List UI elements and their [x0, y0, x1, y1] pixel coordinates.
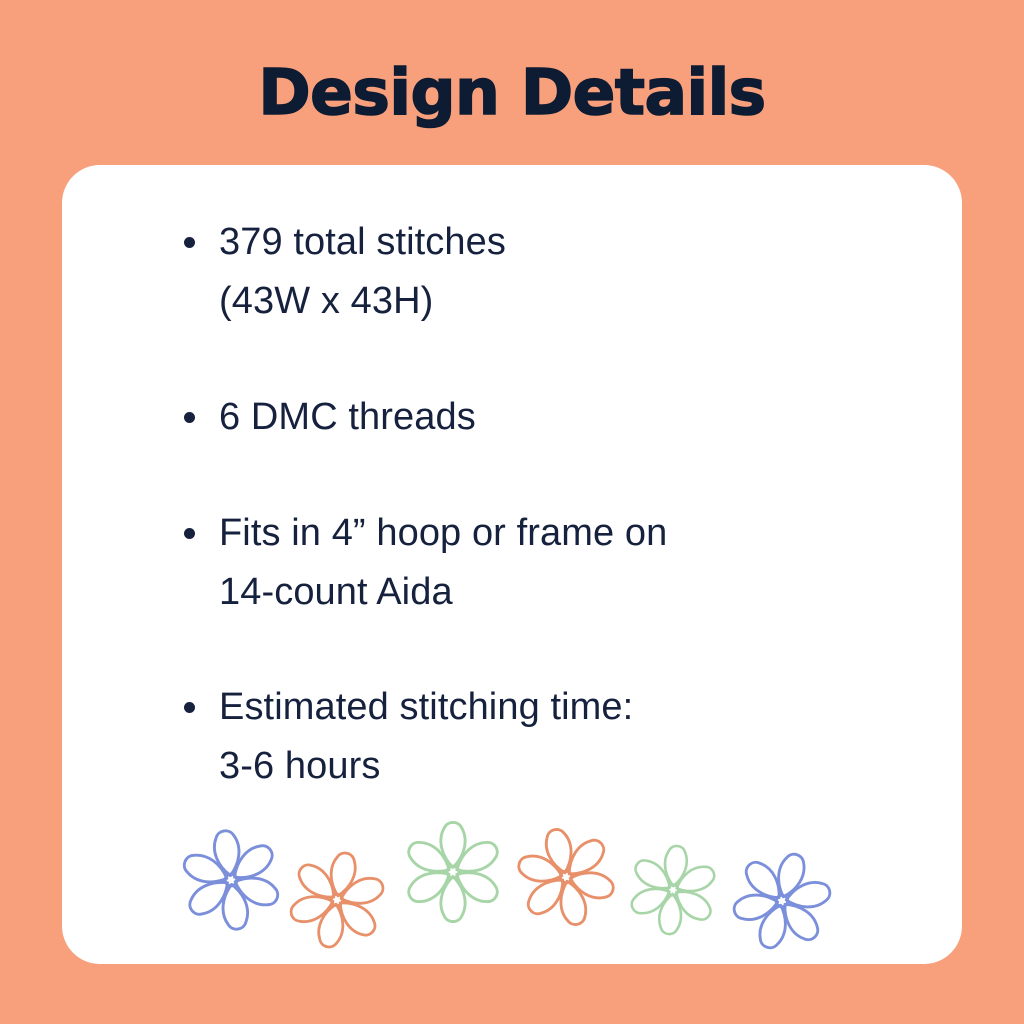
- bullet-dot-icon: [184, 528, 195, 539]
- list-item-line-2: (43W x 43H): [219, 272, 918, 331]
- page-title: Design Details: [0, 58, 1024, 127]
- bullet-dot-icon: [184, 412, 195, 423]
- list-item-hoop-size: Fits in 4” hoop or frame on 14-count Aid…: [178, 504, 918, 622]
- list-item-line-1: 379 total stitches: [219, 213, 918, 272]
- design-details-list: 379 total stitches (43W x 43H) 6 DMC thr…: [178, 213, 918, 796]
- flower-icon: [511, 822, 621, 932]
- flower-icon: [397, 816, 509, 928]
- list-item-line-1: Fits in 4” hoop or frame on: [219, 504, 918, 563]
- flower-icon: [175, 824, 287, 936]
- flower-icon: [727, 846, 837, 956]
- list-item-total-stitches: 379 total stitches (43W x 43H): [178, 213, 918, 331]
- flower-decoration-row: [175, 810, 875, 950]
- list-item-line-2: 3-6 hours: [219, 737, 918, 796]
- list-item-stitching-time: Estimated stitching time: 3-6 hours: [178, 678, 918, 796]
- list-item-line-2: 14-count Aida: [219, 563, 918, 622]
- list-item-line-1: 6 DMC threads: [219, 388, 918, 447]
- bullet-dot-icon: [184, 702, 195, 713]
- flower-icon: [283, 846, 391, 954]
- bullet-dot-icon: [184, 237, 195, 248]
- design-details-card: 379 total stitches (43W x 43H) 6 DMC thr…: [62, 165, 962, 964]
- list-item-line-1: Estimated stitching time:: [219, 678, 918, 737]
- flower-icon: [623, 840, 723, 940]
- list-item-dmc-threads: 6 DMC threads: [178, 388, 918, 447]
- poster-canvas: Design Details 379 total stitches (43W x…: [0, 0, 1024, 1024]
